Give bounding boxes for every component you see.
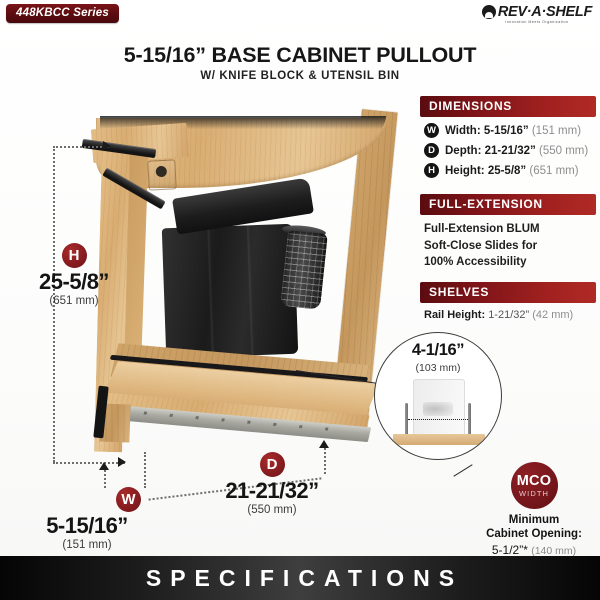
width-left-arrow (99, 462, 109, 470)
dimension-text-height: Height: 25-5/8” (651 mm) (445, 165, 579, 177)
height-top-tick (53, 146, 109, 148)
brand-logo: REV·A·SHELF Innovation Meets Organizatio… (482, 5, 592, 25)
height-badge: H (62, 243, 87, 268)
rail-height-label: Rail Height: (424, 309, 485, 321)
dimensions-heading: DIMENSIONS (420, 96, 596, 117)
width-value-mm: (151 mm) (20, 539, 154, 551)
depth-value-mm: (550 mm) (190, 504, 354, 516)
page-title: 5-15/16” BASE CABINET PULLOUT (0, 43, 600, 68)
brand-plate (147, 159, 177, 190)
depth-letter-icon: D (424, 143, 439, 158)
depth-value: 21-21/32” (190, 478, 354, 504)
full-extension-line-3: 100% Accessibility (424, 254, 594, 271)
height-bottom-tick (53, 462, 125, 464)
rail-height-row: Rail Height: 1-21/32” (42 mm) (424, 309, 594, 321)
detail-measure-arrow (408, 419, 468, 420)
mco-value-row: 5-1/2”* (140 mm) (470, 543, 598, 557)
mco-badge: MCO WIDTH (511, 462, 558, 509)
footer-bar: SPECIFICATIONS (0, 556, 600, 600)
logo-row: REV·A·SHELF (482, 5, 592, 20)
full-extension-line-2: Soft-Close Slides for (424, 238, 594, 255)
width-callout: W 5-15/16” (151 mm) (20, 487, 154, 551)
mco-title-line-2: Cabinet Opening: (470, 527, 598, 541)
dimension-text-depth: Depth: 21-21/32” (550 mm) (445, 145, 588, 157)
mco-badge-top: MCO (517, 474, 551, 489)
height-value: 25-5/8” (8, 269, 140, 295)
shelves-heading: SHELVES (420, 282, 596, 303)
mco-title-line-1: Minimum (470, 513, 598, 527)
series-badge: 448KBCC Series (6, 4, 119, 23)
height-bottom-arrow (118, 457, 126, 467)
shelves-body: Rail Height: 1-21/32” (42 mm) (420, 303, 596, 323)
detail-value: 4-1/16” (375, 341, 501, 360)
mco-value: 5-1/2”* (492, 543, 528, 557)
dimensions-body: W Width: 5-15/16” (151 mm) D Depth: 21-2… (420, 117, 596, 185)
rev-a-shelf-dome-icon (482, 5, 496, 19)
logo-tagline: Innovation Meets Organization (505, 21, 568, 25)
rail-height-mm: (42 mm) (532, 309, 573, 321)
utensil-bin-body (162, 224, 298, 359)
dimension-row-depth: D Depth: 21-21/32” (550 mm) (424, 143, 594, 158)
full-extension-line-1: Full-Extension BLUM (424, 221, 594, 238)
width-letter-icon: W (424, 123, 439, 138)
spec-sheet-page: 448KBCC Series REV·A·SHELF Innovation Me… (0, 0, 600, 600)
depth-right-arrow (319, 440, 329, 448)
width-right-tick (144, 452, 146, 488)
full-extension-body: Full-Extension BLUM Soft-Close Slides fo… (420, 215, 596, 273)
width-value: 5-15/16” (20, 513, 154, 539)
width-badge: W (116, 487, 141, 512)
rail-height-value: 1-21/32” (488, 309, 529, 321)
shelves-panel: SHELVES Rail Height: 1-21/32” (42 mm) (420, 282, 596, 323)
dimension-row-height: H Height: 25-5/8” (651 mm) (424, 163, 594, 178)
detail-knife-block (413, 379, 465, 436)
height-top-arrow (103, 141, 111, 151)
height-callout: H 25-5/8” (651 mm) (8, 243, 140, 307)
footer-title: SPECIFICATIONS (137, 565, 463, 592)
dimension-text-width: Width: 5-15/16” (151 mm) (445, 125, 581, 137)
mesh-utensil-bin (280, 230, 328, 310)
dimension-row-width: W Width: 5-15/16” (151 mm) (424, 123, 594, 138)
logo-wordmark: REV·A·SHELF (498, 5, 592, 20)
mco-value-mm: (140 mm) (531, 545, 576, 557)
full-extension-panel: FULL-EXTENSION Full-Extension BLUM Soft-… (420, 194, 596, 273)
dimensions-panel: DIMENSIONS W Width: 5-15/16” (151 mm) D … (420, 96, 596, 185)
depth-callout: D 21-21/32” (550 mm) (190, 452, 354, 516)
page-subtitle: W/ KNIFE BLOCK & UTENSIL BIN (0, 70, 600, 82)
detail-right-pin (468, 403, 471, 437)
info-panels: DIMENSIONS W Width: 5-15/16” (151 mm) D … (420, 96, 596, 332)
knife-block-detail-bubble: 4-1/16” (103 mm) (374, 332, 502, 460)
height-letter-icon: H (424, 163, 439, 178)
depth-badge: D (260, 452, 285, 477)
detail-wood-base (393, 434, 485, 445)
mco-badge-bottom: WIDTH (519, 490, 549, 498)
detail-value-mm: (103 mm) (375, 362, 501, 374)
full-extension-heading: FULL-EXTENSION (420, 194, 596, 215)
detail-left-pin (405, 403, 408, 437)
height-value-mm: (651 mm) (8, 295, 140, 307)
